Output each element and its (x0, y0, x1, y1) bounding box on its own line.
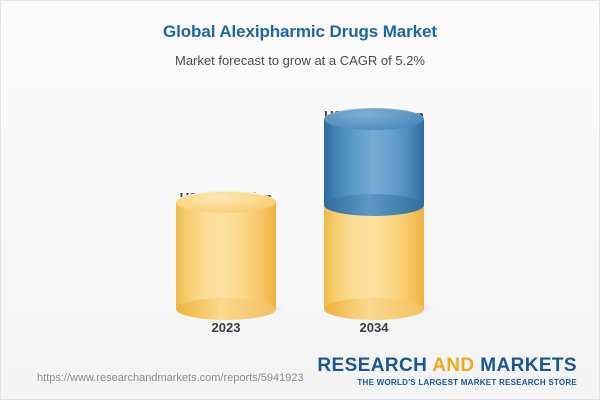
chart-subtitle: Market forecast to grow at a CAGR of 5.2… (1, 43, 599, 70)
cylinder-top-cap-2023 (176, 191, 276, 213)
cylinder-2034 (324, 119, 424, 309)
logo-word-and: AND (432, 355, 474, 376)
cylinder-2023 (176, 202, 276, 309)
category-label-2023: 2023 (212, 320, 241, 336)
bar-segment-base-2034 (324, 205, 424, 309)
logo-tagline: THE WORLD'S LARGEST MARKET RESEARCH STOR… (317, 376, 577, 388)
category-label-2034: 2034 (360, 320, 389, 336)
chart-plot-area: USD 3.7 Billion 2023 USD 6.45 Billion (1, 81, 599, 336)
cylinder-bottom-cap-2034 (324, 298, 424, 320)
research-and-markets-logo: RESEARCH AND MARKETS THE WORLD'S LARGEST… (317, 355, 577, 388)
chart-title: Global Alexipharmic Drugs Market (1, 21, 599, 43)
cylinder-bottom-cap-2023 (176, 298, 276, 320)
bar-segment-growth-body-2034 (324, 119, 424, 205)
bar-segment-base-2023 (176, 202, 276, 309)
bar-segment-base-body-2034 (324, 205, 424, 309)
bar-segment-base-body-2023 (176, 202, 276, 309)
bar-segment-growth-2034 (324, 119, 424, 205)
chart-header: Global Alexipharmic Drugs Market Market … (1, 1, 599, 70)
logo-wordmark: RESEARCH AND MARKETS (317, 355, 577, 376)
segment-divider-cap-2034 (324, 194, 424, 216)
logo-word-markets: MARKETS (480, 355, 577, 376)
cylinder-top-cap-2034 (324, 108, 424, 130)
market-forecast-chart-card: Global Alexipharmic Drugs Market Market … (0, 0, 600, 400)
logo-word-research: RESEARCH (317, 355, 427, 376)
chart-footer: https://www.researchandmarkets.com/repor… (1, 345, 599, 399)
report-url[interactable]: https://www.researchandmarkets.com/repor… (37, 371, 304, 385)
